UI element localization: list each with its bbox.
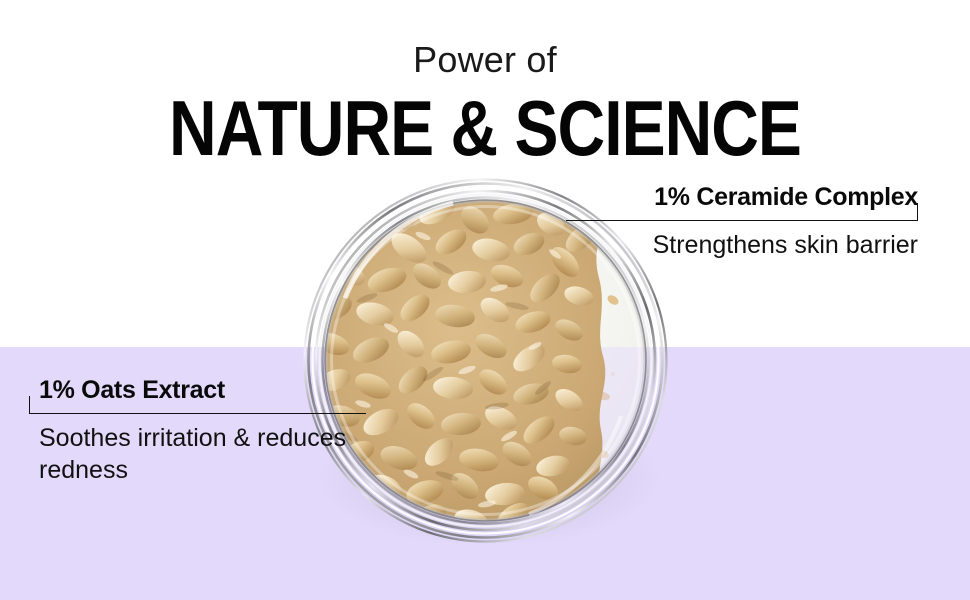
callout-oats-rule <box>29 413 366 414</box>
headline-kicker: Power of <box>0 42 970 78</box>
callout-ceramide: 1% Ceramide Complex Strengthens skin bar… <box>566 182 926 261</box>
callout-ceramide-rule <box>566 220 918 221</box>
callout-oats: 1% Oats Extract Soothes irritation & red… <box>29 375 374 486</box>
callout-oats-title: 1% Oats Extract <box>29 375 374 406</box>
callout-ceramide-description: Strengthens skin barrier <box>566 229 926 261</box>
callout-ceramide-title: 1% Ceramide Complex <box>566 182 926 213</box>
headline-title: NATURE & SCIENCE <box>15 90 956 168</box>
callout-oats-description: Soothes irritation & reduces redness <box>29 422 374 486</box>
headline-block: Power of NATURE & SCIENCE <box>0 0 970 158</box>
